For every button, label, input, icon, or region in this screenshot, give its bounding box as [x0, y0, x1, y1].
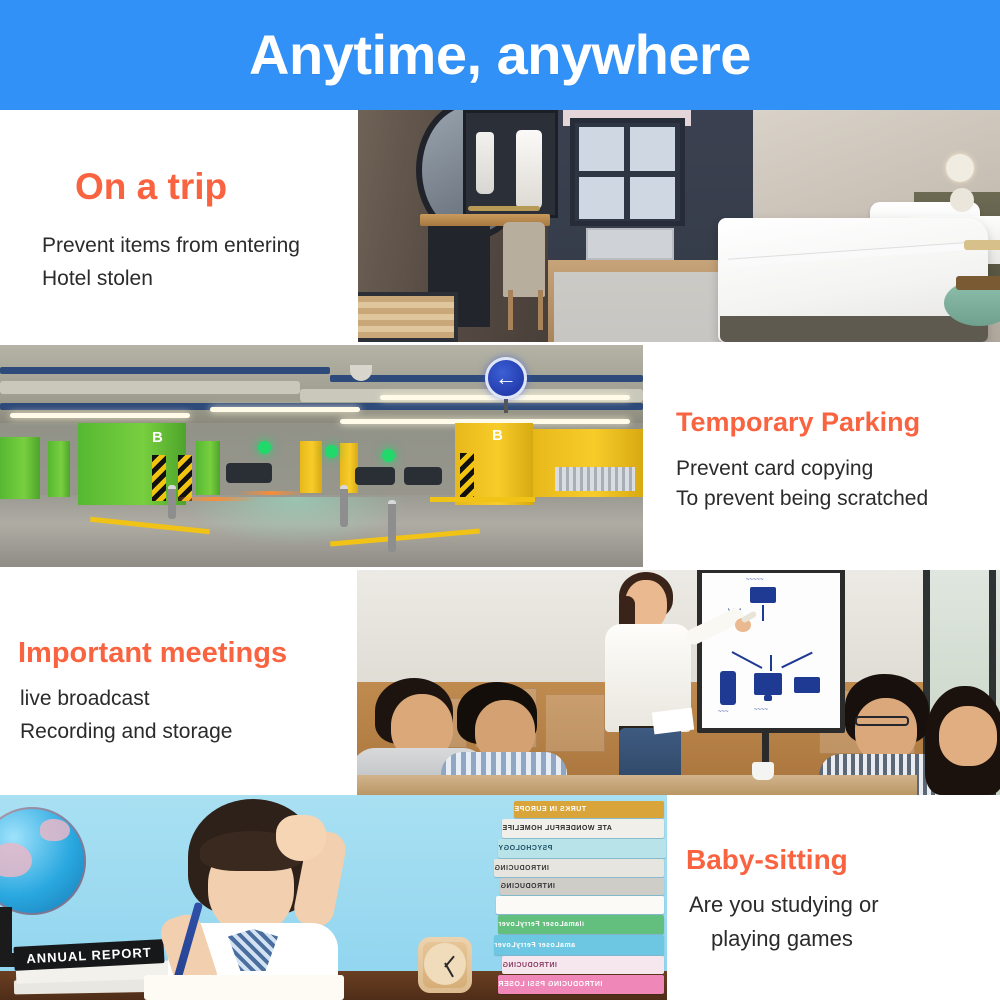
- hotel-bathrobe-2: [516, 130, 542, 210]
- section-on-a-trip-body-line-1: Prevent items from entering: [42, 232, 300, 261]
- stack-book: PSYCHOLOGY: [498, 839, 666, 858]
- diagram-phone: [720, 671, 736, 705]
- parked-car: [404, 467, 442, 485]
- direction-arrow-sign-icon: ←: [485, 357, 527, 399]
- whiteboard-label: ~~~~~: [746, 577, 764, 583]
- whiteboard-label: ~~~: [718, 709, 729, 715]
- infographic-page: Anytime, anywhere On a trip Prevent item…: [0, 0, 1000, 1000]
- diagram-monitor: [754, 673, 782, 695]
- hazard-stripe: [152, 455, 166, 501]
- floor-marking-line: [430, 497, 535, 502]
- hotel-rug: [554, 272, 744, 342]
- green-pillar-far: [48, 441, 70, 497]
- hotel-wall-light-upper: [946, 154, 974, 182]
- parking-garage-photo: ← B B: [0, 345, 643, 567]
- chair-leg: [508, 290, 513, 330]
- hazard-stripe: [460, 453, 474, 499]
- stack-book: amaLoser FerryLover: [494, 935, 664, 955]
- bollard: [388, 500, 396, 552]
- section-baby-sitting-body-line-1: Are you studying or: [689, 890, 879, 920]
- hotel-bed-base: [720, 316, 988, 342]
- attendee-glasses: [855, 716, 909, 726]
- hotel-luggage-bench: [358, 292, 458, 342]
- ceiling-light-tube: [10, 413, 190, 418]
- globe-stand: [0, 907, 12, 959]
- parked-car: [355, 467, 395, 485]
- section-baby-sitting: ANNUAL REPORT TURKS IN EUROPE ATE WONDER…: [0, 795, 1000, 1000]
- section-temporary-parking-heading: Temporary Parking: [676, 408, 920, 436]
- coffee-cup: [752, 762, 774, 780]
- pillar-label-b-left: B: [152, 429, 163, 446]
- ceiling-beam: [0, 367, 330, 374]
- stack-book: ATE WONDERFUL HOMELIFE: [502, 819, 664, 838]
- hotel-room-photo: [358, 110, 1000, 342]
- hotel-nightstand-lamp: [964, 240, 1000, 250]
- stack-book: INTRODUCING: [500, 878, 664, 895]
- stack-book-title: ilamaLoser FerryLover: [498, 921, 590, 928]
- section-temporary-parking: ← B B: [0, 342, 1000, 570]
- page-header-banner: Anytime, anywhere: [0, 0, 1000, 110]
- stack-book: ilamaLoser FerryLover: [498, 915, 664, 934]
- hotel-bathrobe-1: [476, 132, 494, 194]
- diagram-laptop-right: [794, 677, 820, 693]
- section-on-a-trip-body-line-2: Hotel stolen: [42, 265, 153, 294]
- section-important-meetings-heading: Important meetings: [18, 638, 287, 668]
- section-on-a-trip: On a trip Prevent items from entering Ho…: [0, 110, 1000, 342]
- section-baby-sitting-text: Baby-sitting Are you studying or playing…: [667, 795, 1000, 1000]
- sign-post: [504, 399, 508, 413]
- shopping-carts: [555, 467, 635, 491]
- stack-book: INTRODUCING: [502, 956, 664, 974]
- green-bay-indicator: [325, 445, 338, 458]
- section-temporary-parking-body-line-1: Prevent card copying: [676, 455, 873, 484]
- pillar-label-b-right: B: [492, 427, 503, 444]
- attendee-head: [855, 698, 917, 762]
- section-important-meetings-text: Important meetings live broadcast Record…: [0, 570, 357, 795]
- window-pane: [630, 177, 675, 219]
- attendee-head: [939, 706, 997, 766]
- open-notebook: [144, 975, 344, 1000]
- hotel-wall-light-lower: [950, 188, 974, 212]
- bollard: [168, 485, 176, 519]
- stack-book-title: PSYCHOLOGY: [498, 845, 558, 852]
- hotel-clothes-rail: [468, 206, 540, 211]
- stack-book-title: INTRODUCING PSSI LOSER: [498, 981, 608, 988]
- hazard-stripe: [178, 455, 192, 501]
- hotel-tray: [956, 276, 1000, 290]
- whiteboard-label: ~~~~: [754, 707, 768, 713]
- meeting-room-photo: ~~~~~ VM ~~~ ~~~~: [357, 570, 1000, 795]
- conference-table: [357, 775, 917, 795]
- diagram-connector: [732, 651, 763, 669]
- green-pillar-far: [196, 441, 220, 495]
- diagram-connector: [770, 655, 772, 671]
- child-studying-photo: ANNUAL REPORT TURKS IN EUROPE ATE WONDER…: [0, 795, 667, 1000]
- hotel-window: [570, 118, 685, 226]
- parked-car: [226, 463, 272, 483]
- stack-book-title: TURKS IN EUROPE: [514, 806, 592, 813]
- stack-book-title: amaLoser FerryLover: [494, 942, 581, 949]
- hotel-chair: [503, 222, 545, 297]
- page-title: Anytime, anywhere: [249, 27, 751, 83]
- whiteboard: ~~~~~ VM ~~~ ~~~~: [697, 570, 845, 733]
- stack-book: INTRODUCING: [494, 859, 664, 877]
- diagram-monitor-stand: [764, 695, 772, 701]
- green-bay-indicator: [258, 441, 271, 454]
- stack-book: TURKS IN EUROPE: [514, 801, 664, 818]
- section-important-meetings-body-line-2: Recording and storage: [20, 718, 232, 747]
- window-pane: [630, 127, 675, 171]
- stack-book-title: INTRODUCING: [500, 883, 561, 890]
- section-on-a-trip-text: On a trip Prevent items from entering Ho…: [0, 110, 358, 342]
- stack-book-title: INTRODUCING: [502, 962, 563, 969]
- window-pane: [579, 177, 624, 219]
- section-important-meetings: Important meetings live broadcast Record…: [0, 570, 1000, 795]
- stack-book: [496, 896, 664, 914]
- chair-leg: [538, 290, 543, 330]
- diagram-connector: [781, 652, 812, 669]
- yellow-pillar-far: [300, 441, 322, 493]
- green-pillar-far-left: [0, 437, 40, 499]
- stack-book: INTRODUCING PSSI LOSER: [498, 975, 664, 994]
- light-trail: [172, 497, 257, 501]
- section-baby-sitting-heading: Baby-sitting: [686, 845, 848, 874]
- section-important-meetings-body-line-1: live broadcast: [20, 685, 150, 714]
- diagram-connector: [762, 605, 764, 621]
- section-temporary-parking-body-line-2: To prevent being scratched: [676, 485, 928, 514]
- section-temporary-parking-text: Temporary Parking Prevent card copying T…: [643, 342, 1000, 570]
- diagram-laptop-top: [750, 587, 776, 603]
- child-hand-on-head: [276, 815, 326, 861]
- light-trail: [236, 491, 306, 495]
- bollard: [340, 485, 348, 527]
- section-on-a-trip-heading: On a trip: [75, 168, 227, 207]
- wood-panel: [545, 694, 605, 752]
- stack-book-title: INTRODUCING: [494, 865, 555, 872]
- section-baby-sitting-body-line-2: playing games: [711, 924, 853, 954]
- hotel-radiator: [586, 228, 674, 260]
- green-bay-indicator: [382, 449, 395, 462]
- ceiling-duct: [0, 381, 300, 394]
- ceiling-light-tube: [210, 407, 360, 412]
- window-pane: [579, 127, 624, 171]
- book-stack: TURKS IN EUROPE ATE WONDERFUL HOMELIFE P…: [492, 797, 667, 1000]
- stack-book-title: ATE WONDERFUL HOMELIFE: [502, 825, 618, 832]
